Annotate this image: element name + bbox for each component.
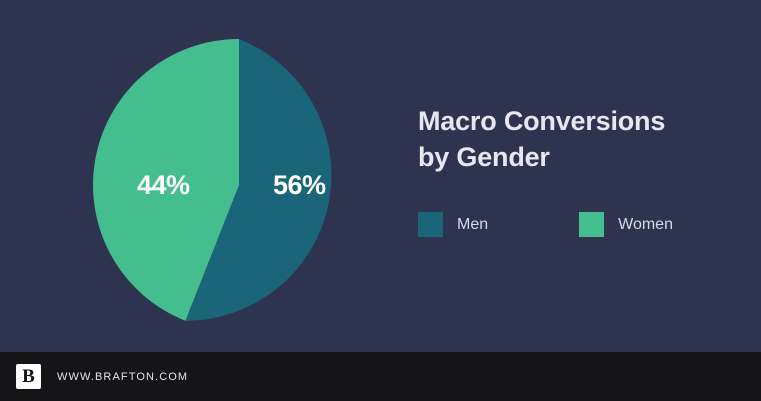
legend-label-women: Women <box>618 217 673 233</box>
legend-label-men: Men <box>457 217 488 233</box>
brafton-logo-icon: B <box>16 364 41 389</box>
legend-swatch-men-icon <box>418 212 443 237</box>
pie-slice-label-women: 44% <box>137 170 190 201</box>
legend-swatch-women-icon <box>579 212 604 237</box>
legend-item-women[interactable]: Women <box>579 212 673 237</box>
chart-title: Macro Conversions by Gender <box>418 104 738 175</box>
legend-item-men[interactable]: Men <box>418 212 488 237</box>
footer-website-url[interactable]: WWW.BRAFTON.COM <box>57 371 188 383</box>
brafton-logo-mark: B <box>22 367 35 386</box>
pie-chart: 44% 56% <box>93 39 385 331</box>
pie-slice-label-men: 56% <box>273 170 326 201</box>
chart-legend: Men Women <box>418 212 738 237</box>
infographic-canvas: 44% 56% Macro Conversions by Gender Men … <box>0 0 761 401</box>
chart-info-panel: Macro Conversions by Gender Men Women <box>418 104 738 237</box>
footer-bar: B WWW.BRAFTON.COM <box>0 352 761 401</box>
